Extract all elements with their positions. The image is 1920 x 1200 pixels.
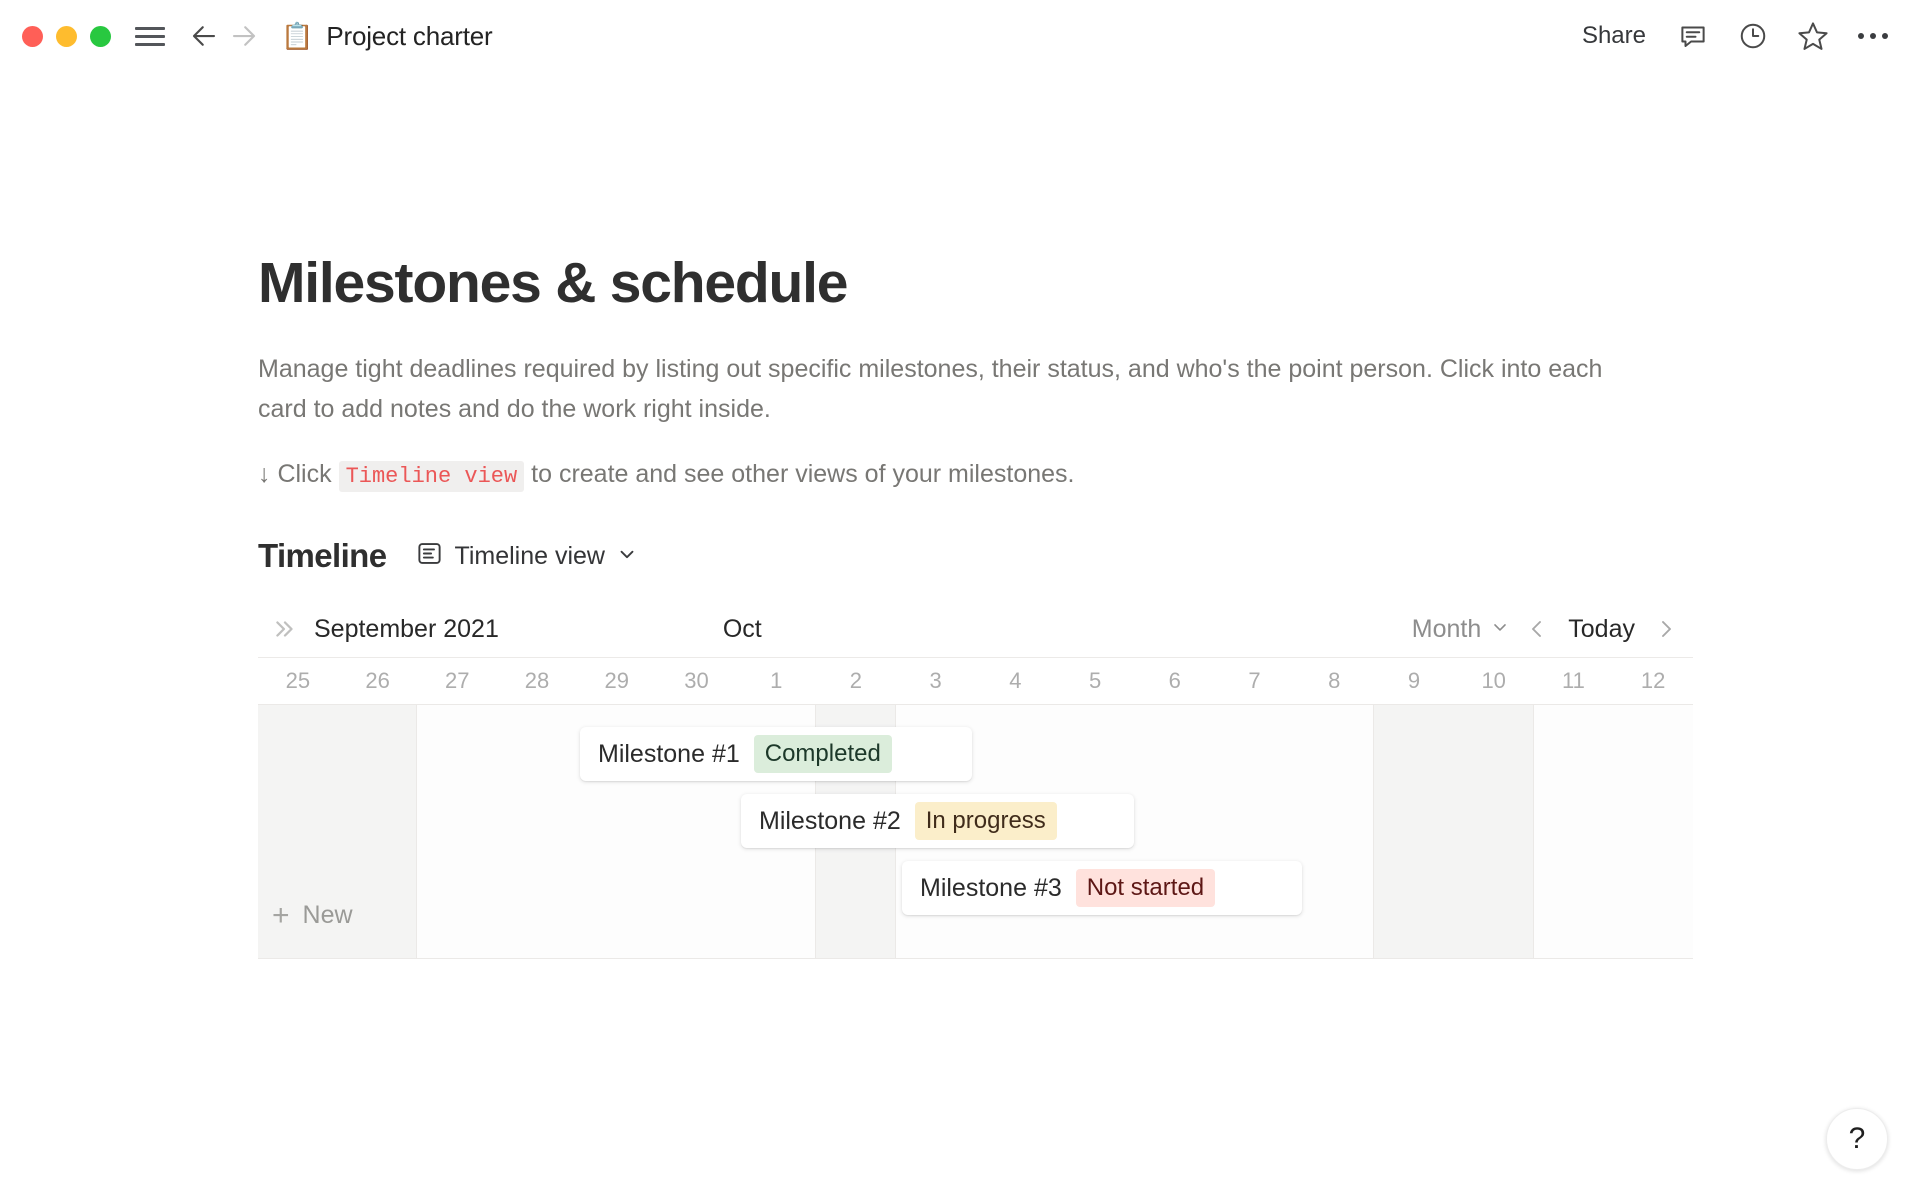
timeline-day-28: 28 xyxy=(497,668,577,694)
timeline-day-1: 1 xyxy=(736,668,816,694)
timeline-section-header: Timeline Timeline view xyxy=(258,537,1698,575)
new-milestone-button[interactable]: + New xyxy=(272,901,353,930)
timeline-day-5: 5 xyxy=(1055,668,1135,694)
page-callout-paragraph: ↓ Click Timeline view to create and see … xyxy=(258,456,1698,494)
tab-timeline-view[interactable]: Timeline view xyxy=(410,537,644,575)
timeline-view-icon xyxy=(416,540,443,572)
timeline-scale-label: Month xyxy=(1412,615,1481,644)
more-options-icon[interactable] xyxy=(1856,33,1890,39)
timeline-today-button[interactable]: Today xyxy=(1558,613,1645,646)
timeline-day-10: 10 xyxy=(1454,668,1534,694)
timeline-next-month: Oct xyxy=(723,615,762,644)
timeline-grid: Milestone #1CompletedMilestone #2In prog… xyxy=(258,704,1693,959)
timeline-day-11: 11 xyxy=(1534,668,1614,694)
timeline-day-27: 27 xyxy=(417,668,497,694)
timeline-day-12: 12 xyxy=(1613,668,1693,694)
status-badge: Completed xyxy=(754,735,892,773)
page-content: Milestones & schedule Manage tight deadl… xyxy=(0,252,1920,959)
timeline-current-month: September 2021 xyxy=(314,615,499,644)
traffic-light-controls xyxy=(22,26,111,47)
history-icon[interactable] xyxy=(1736,19,1770,53)
comment-icon[interactable] xyxy=(1676,19,1710,53)
timeline-next-button[interactable] xyxy=(1645,608,1687,650)
timeline-day-6: 6 xyxy=(1135,668,1215,694)
timeline-day-7: 7 xyxy=(1215,668,1295,694)
window-minimize-button[interactable] xyxy=(56,26,77,47)
window-maximize-button[interactable] xyxy=(90,26,111,47)
timeline-milestone-card[interactable]: Milestone #2In progress xyxy=(741,794,1134,848)
back-arrow-icon[interactable] xyxy=(187,19,221,53)
timeline-scale-select[interactable]: Month xyxy=(1406,613,1516,646)
forward-arrow-icon[interactable] xyxy=(227,19,261,53)
document-title[interactable]: Project charter xyxy=(326,21,492,52)
status-badge: Not started xyxy=(1076,869,1215,907)
milestone-name: Milestone #2 xyxy=(759,807,901,836)
timeline-day-9: 9 xyxy=(1374,668,1454,694)
timeline-day-29: 29 xyxy=(577,668,657,694)
expand-months-icon[interactable] xyxy=(272,616,298,642)
clipboard-icon: 📋 xyxy=(281,23,313,49)
timeline-milestone-card[interactable]: Milestone #1Completed xyxy=(580,727,972,781)
callout-suffix: to create and see other views of your mi… xyxy=(524,460,1074,488)
callout-code-chip: Timeline view xyxy=(339,461,525,492)
favorite-icon[interactable] xyxy=(1796,19,1830,53)
share-button[interactable]: Share xyxy=(1578,20,1650,52)
timeline-milestone-card[interactable]: Milestone #3Not started xyxy=(902,861,1302,915)
timeline-view-label: Timeline view xyxy=(454,542,605,571)
window-close-button[interactable] xyxy=(22,26,43,47)
timeline-day-4: 4 xyxy=(975,668,1055,694)
timeline-widget: September 2021 Oct Month xyxy=(258,601,1693,959)
timeline-day-30: 30 xyxy=(657,668,737,694)
help-button[interactable]: ? xyxy=(1826,1108,1888,1170)
timeline-day-3: 3 xyxy=(896,668,976,694)
chevron-down-icon xyxy=(1490,615,1510,644)
status-badge: In progress xyxy=(915,802,1057,840)
breadcrumb[interactable]: 📋 Project charter xyxy=(281,21,492,52)
plus-icon: + xyxy=(272,905,290,926)
sidebar-toggle-icon[interactable] xyxy=(135,21,165,51)
milestone-name: Milestone #3 xyxy=(920,874,1062,903)
window-title-bar: 📋 Project charter Share xyxy=(0,0,1920,72)
callout-prefix: ↓ Click xyxy=(258,460,339,488)
title-bar-actions: Share xyxy=(1578,19,1890,53)
page-title: Milestones & schedule xyxy=(258,252,1698,315)
timeline-day-25: 25 xyxy=(258,668,338,694)
timeline-heading: Timeline xyxy=(258,537,386,575)
chevron-down-icon xyxy=(616,543,638,570)
timeline-day-8: 8 xyxy=(1294,668,1374,694)
page-intro-paragraph: Manage tight deadlines required by listi… xyxy=(258,349,1648,430)
timeline-toolbar-actions: Month Today xyxy=(1406,608,1687,650)
milestone-name: Milestone #1 xyxy=(598,740,740,769)
timeline-bars: Milestone #1CompletedMilestone #2In prog… xyxy=(258,705,1693,958)
timeline-toolbar: September 2021 Oct Month xyxy=(258,601,1693,657)
timeline-day-2: 2 xyxy=(816,668,896,694)
timeline-day-26: 26 xyxy=(338,668,418,694)
new-milestone-label: New xyxy=(303,901,353,930)
timeline-day-ruler: 252627282930123456789101112 xyxy=(258,658,1693,704)
timeline-prev-button[interactable] xyxy=(1516,608,1558,650)
